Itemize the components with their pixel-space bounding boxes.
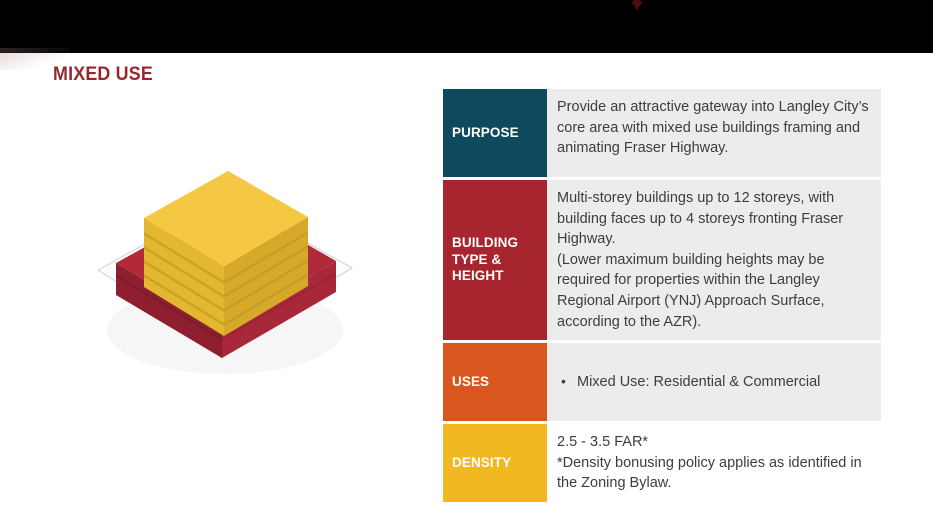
row-content-building-type-height: Multi-storey buildings up to 12 storeys,… — [547, 180, 881, 340]
table-row: USES Mixed Use: Residential & Commercial — [443, 343, 881, 421]
paragraph: Provide an attractive gateway into Langl… — [557, 97, 871, 159]
row-label-density: DENSITY — [443, 424, 547, 502]
table-row: BUILDING TYPE & HEIGHT Multi-storey buil… — [443, 180, 881, 340]
list-item: Mixed Use: Residential & Commercial — [557, 372, 820, 393]
row-content-purpose: Provide an attractive gateway into Langl… — [547, 89, 881, 177]
row-label-purpose: PURPOSE — [443, 89, 547, 177]
land-use-spec-table: PURPOSE Provide an attractive gateway in… — [443, 89, 881, 502]
paragraph: *Density bonusing policy applies as iden… — [557, 453, 871, 494]
top-black-band — [0, 0, 933, 53]
table-row: DENSITY 2.5 - 3.5 FAR* *Density bonusing… — [443, 424, 881, 502]
uses-list: Mixed Use: Residential & Commercial — [557, 372, 820, 393]
paragraph: (Lower maximum building heights may be r… — [557, 250, 871, 332]
row-content-density: 2.5 - 3.5 FAR* *Density bonusing policy … — [547, 424, 881, 502]
paragraph: Multi-storey buildings up to 12 storeys,… — [557, 188, 871, 250]
page-title: MIXED USE — [53, 64, 153, 86]
paragraph: 2.5 - 3.5 FAR* — [557, 432, 871, 453]
row-label-uses: USES — [443, 343, 547, 421]
row-content-uses: Mixed Use: Residential & Commercial — [547, 343, 881, 421]
decorative-marker-icon — [632, 0, 642, 10]
isometric-massing-diagram — [60, 150, 390, 410]
row-label-building-type-height: BUILDING TYPE & HEIGHT — [443, 180, 547, 340]
table-row: PURPOSE Provide an attractive gateway in… — [443, 89, 881, 177]
